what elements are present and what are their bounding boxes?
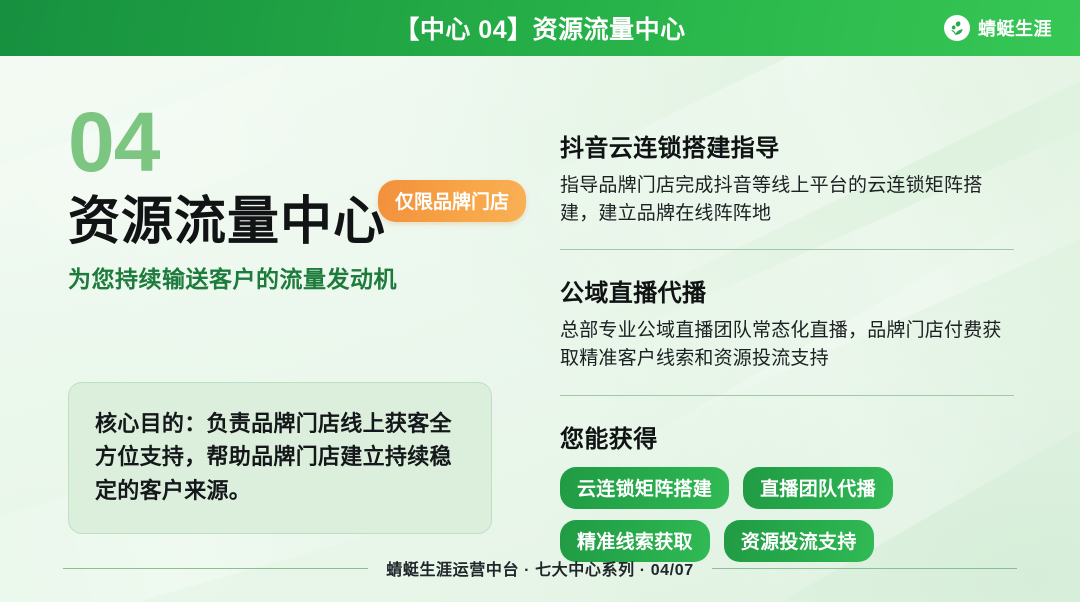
feature-body: 总部专业公域直播团队常态化直播，品牌门店付费获取精准客户线索和资源投流支持 (560, 317, 1016, 372)
feature-section: 公域直播代播 总部专业公域直播团队常态化直播，品牌门店付费获取精准客户线索和资源… (560, 249, 1016, 372)
leaf-dragonfly-logo-icon (944, 15, 970, 41)
feature-section: 抖音云连锁搭建指导 指导品牌门店完成抖音等线上平台的云连锁矩阵搭建，建立品牌在线… (560, 128, 1016, 227)
footer-divider-right (712, 568, 1017, 569)
feature-body: 指导品牌门店完成抖音等线上平台的云连锁矩阵搭建，建立品牌在线阵阵地 (560, 172, 1016, 227)
core-purpose-box: 核心目的：负责品牌门店线上获客全方位支持，帮助品牌门店建立持续稳定的客户来源。 (68, 382, 492, 534)
status-badge: 仅限品牌门店 (378, 180, 526, 222)
core-purpose-text: 核心目的：负责品牌门店线上获客全方位支持，帮助品牌门店建立持续稳定的客户来源。 (95, 407, 465, 507)
page-title: 【中心 04】资源流量中心 (394, 10, 685, 46)
benefit-tag: 云连锁矩阵搭建 (560, 467, 729, 509)
right-column: 抖音云连锁搭建指导 指导品牌门店完成抖音等线上平台的云连锁矩阵搭建，建立品牌在线… (560, 128, 1016, 562)
brand-name: 蜻蜓生涯 (978, 15, 1052, 41)
footer-text: 蜻蜓生涯运营中台 · 七大中心系列 · 04/07 (386, 556, 693, 580)
benefits-title: 您能获得 (560, 419, 1016, 454)
slide-root: 【中心 04】资源流量中心 蜻蜓生涯 04 仅限品牌门店 资源流量中心 为您持续… (0, 0, 1080, 602)
benefits-section: 您能获得 云连锁矩阵搭建 直播团队代播 精准线索获取 资源投流支持 (560, 395, 1016, 562)
benefit-tag-list: 云连锁矩阵搭建 直播团队代播 精准线索获取 资源投流支持 (560, 467, 1016, 562)
footer: 蜻蜓生涯运营中台 · 七大中心系列 · 04/07 (0, 556, 1080, 580)
feature-title: 公域直播代播 (560, 273, 1016, 308)
left-column: 04 仅限品牌门店 资源流量中心 为您持续输送客户的流量发动机 (68, 104, 508, 294)
feature-title: 抖音云连锁搭建指导 (560, 128, 1016, 163)
brand-logo: 蜻蜓生涯 (944, 15, 1052, 41)
benefit-tag-row: 云连锁矩阵搭建 直播团队代播 (560, 467, 1016, 509)
header-bar: 【中心 04】资源流量中心 蜻蜓生涯 (0, 0, 1080, 56)
sub-title: 为您持续输送客户的流量发动机 (68, 260, 508, 294)
benefit-tag: 直播团队代播 (743, 467, 893, 509)
footer-divider-left (63, 568, 368, 569)
section-number: 04 (68, 104, 508, 181)
